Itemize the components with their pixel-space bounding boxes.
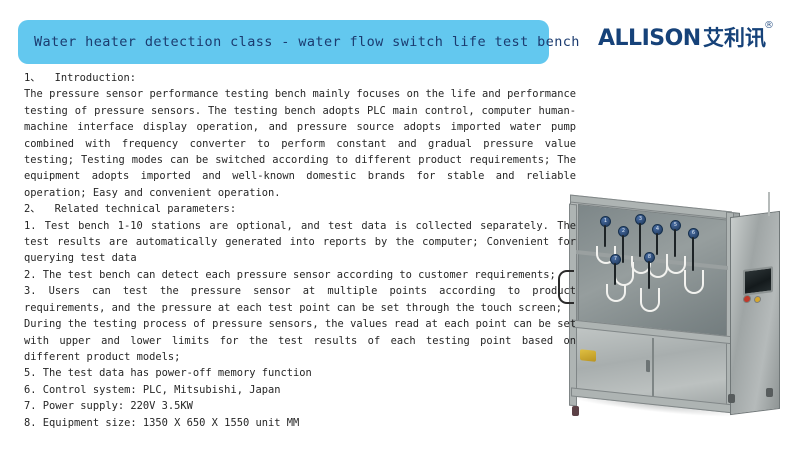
product-spec-page: Water heater detection class - water flo…	[0, 0, 800, 450]
section-2-number: 2、	[24, 203, 41, 215]
sensor-cable	[656, 233, 658, 255]
control-panel-tower	[730, 211, 780, 415]
sensor-cable	[639, 223, 641, 257]
title-banner: Water heater detection class - water flo…	[18, 20, 549, 64]
parameter-item: 7. Power supply: 220V 3.5KW	[24, 398, 576, 414]
cabinet-door-handle	[646, 360, 650, 372]
cabinet-door-divider	[652, 338, 654, 400]
product-photo: 12345678	[540, 192, 800, 450]
section-1-number: 1、	[24, 72, 41, 84]
parameter-item: 2. The test bench can detect each pressu…	[24, 267, 576, 283]
section-2-heading: 2、Related technical parameters:	[24, 201, 576, 217]
sensor-cable	[604, 225, 606, 247]
section-1-body: The pressure sensor performance testing …	[24, 86, 576, 201]
section-1-heading: 1、Introduction:	[24, 70, 576, 86]
sensor-cable	[614, 263, 616, 285]
parameter-item: 1. Test bench 1-10 stations are optional…	[24, 218, 576, 267]
antenna-rod	[768, 192, 770, 216]
parameter-item: During the testing process of pressure s…	[24, 316, 576, 365]
caster-wheel	[766, 388, 773, 397]
sensor-cable	[674, 229, 676, 257]
registered-trademark-icon: ®	[764, 20, 774, 31]
caster-wheel	[728, 394, 735, 403]
pump-component	[580, 349, 596, 362]
logo-chinese-name: 艾利讯	[703, 27, 766, 50]
parameter-item: 5. The test data has power-off memory fu…	[24, 365, 576, 381]
logo-wordmark: ALLISON	[598, 28, 701, 50]
sensor-cable	[648, 261, 650, 289]
parameter-item: 6. Control system: PLC, Mitsubishi, Japa…	[24, 382, 576, 398]
description-text-block: 1、Introduction: The pressure sensor perf…	[24, 70, 576, 431]
page-header: Water heater detection class - water flo…	[0, 0, 800, 72]
page-title: Water heater detection class - water flo…	[18, 34, 580, 50]
sensor-cable	[622, 235, 624, 263]
water-hose	[684, 270, 704, 294]
sensor-cable	[692, 237, 694, 271]
company-logo: ALLISON 艾利讯 ®	[598, 22, 788, 64]
section-1-title: Introduction:	[55, 72, 136, 84]
water-hose	[640, 288, 660, 312]
touchscreen-hmi	[743, 266, 773, 296]
section-2-title: Related technical parameters:	[55, 203, 236, 215]
parameter-item: 8. Equipment size: 1350 X 650 X 1550 uni…	[24, 415, 576, 431]
parameter-item: 3. Users can test the pressure sensor at…	[24, 283, 576, 316]
